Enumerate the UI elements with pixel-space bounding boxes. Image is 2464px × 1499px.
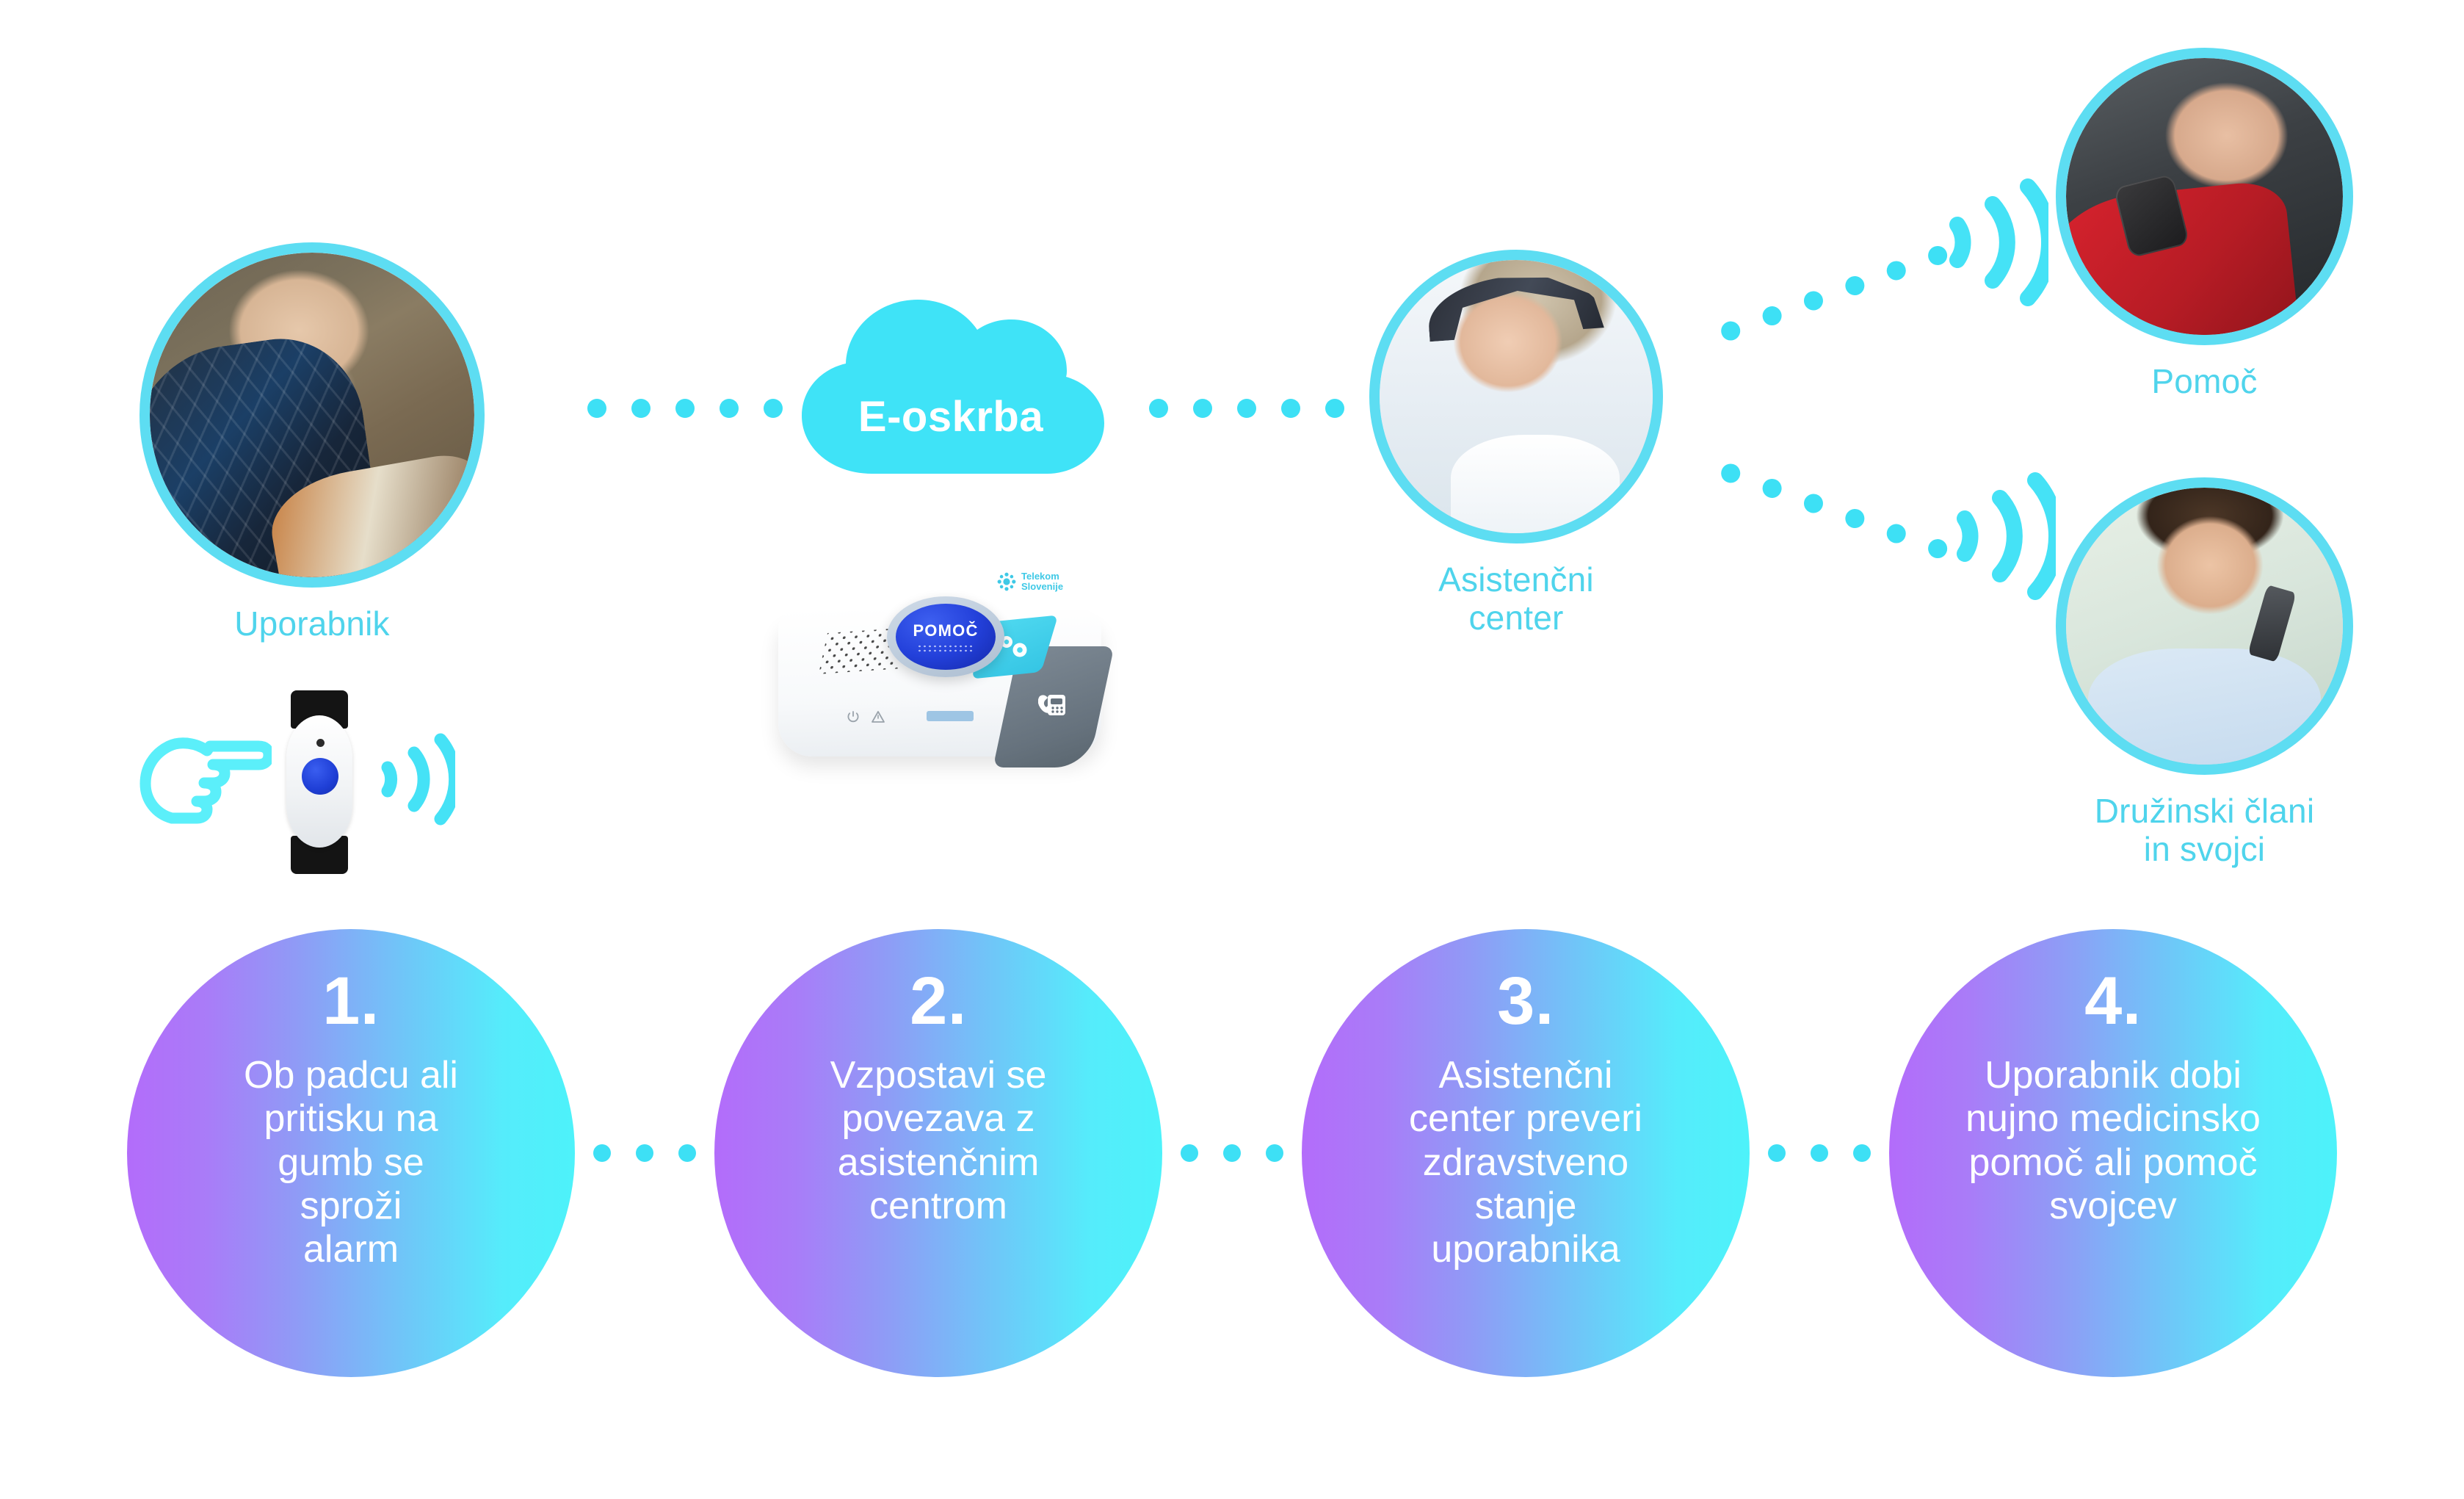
connector-cloud-to-center xyxy=(1149,399,1344,418)
power-icon xyxy=(846,709,860,724)
help-photo-ring xyxy=(2056,48,2353,345)
step-circle-4[interactable]: 4. Uporabnik dobi nujno medicinsko pomoč… xyxy=(1889,929,2337,1377)
step-number: 1. xyxy=(322,967,380,1035)
wrist-button-icon xyxy=(286,690,352,874)
connector-dot xyxy=(1884,521,1908,546)
connector-dot xyxy=(1237,399,1256,418)
assistance-center-label: Asistenčni center xyxy=(1438,561,1594,637)
connector-dot xyxy=(587,399,606,418)
step-connector-1-2 xyxy=(575,1144,714,1162)
connector-dot xyxy=(1760,303,1784,328)
phone-icon xyxy=(1038,692,1068,718)
step-circle-1[interactable]: 1. Ob padcu ali pritisku na gumb se spro… xyxy=(127,929,575,1377)
node-help: Pomoč xyxy=(2056,48,2353,401)
operator-headset-photo xyxy=(1380,260,1653,533)
step-number: 3. xyxy=(1497,967,1554,1035)
elderly-user-photo xyxy=(150,253,474,577)
step-circle-2[interactable]: 2. Vzpostavi se povezava z asistenčnim c… xyxy=(714,929,1162,1377)
step-number: 2. xyxy=(910,967,967,1035)
connector-dot xyxy=(1266,1144,1283,1162)
connector-dot xyxy=(675,399,695,418)
base-station-device: Telekom Slovenije POMOČ xyxy=(764,536,1145,779)
telekom-slovenije-logo: Telekom Slovenije xyxy=(997,568,1107,595)
signal-wave-icon-help xyxy=(1938,176,2048,312)
node-assistance-center: Asistenčni center xyxy=(1369,250,1663,637)
pomoc-button-label: POMOČ xyxy=(913,621,978,640)
connector-dot xyxy=(1193,399,1212,418)
step-text: Vzpostavi se povezava z asistenčnim cent… xyxy=(791,1054,1087,1228)
cloud-shape-icon xyxy=(786,286,1116,477)
step-text: Ob padcu ali pritisku na gumb se sproži … xyxy=(204,1054,498,1271)
connector-dot xyxy=(631,399,651,418)
warning-icon xyxy=(871,709,885,724)
connector-dot xyxy=(1149,399,1168,418)
connector-dot xyxy=(1884,259,1908,283)
assistance-center-photo-ring xyxy=(1369,250,1663,543)
telekom-logo-text: Telekom Slovenije xyxy=(1021,571,1063,591)
wristband-alarm-group xyxy=(139,690,463,874)
connector-dot xyxy=(720,399,739,418)
family-photo-ring xyxy=(2056,477,2353,775)
connector-dot xyxy=(764,399,783,418)
step-text: Asistenčni center preveri zdravstveno st… xyxy=(1369,1054,1682,1271)
signal-wave-icon-family xyxy=(1946,470,2056,606)
connector-dot xyxy=(1843,506,1867,530)
connector-dot xyxy=(1281,399,1300,418)
connector-dot xyxy=(1181,1144,1198,1162)
infographic-canvas: Uporabnik E-oskrba Asistenčni center xyxy=(0,0,2464,1499)
connector-dot xyxy=(1811,1144,1828,1162)
connector-dot xyxy=(1801,289,1825,313)
steps-row: 1. Ob padcu ali pritisku na gumb se spro… xyxy=(0,929,2464,1377)
connector-dot xyxy=(1843,273,1867,297)
connector-dot xyxy=(1719,461,1743,485)
rescuer-radio-photo xyxy=(2066,58,2343,335)
step-circle-3[interactable]: 3. Asistenčni center preveri zdravstveno… xyxy=(1302,929,1750,1377)
connector-dot xyxy=(1719,319,1743,343)
connector-dot xyxy=(1223,1144,1241,1162)
cloud-label: E-oskrba xyxy=(786,392,1116,441)
connector-dot xyxy=(1760,476,1784,500)
step-text: Uporabnik dobi nujno medicinsko pomoč al… xyxy=(1926,1054,2300,1228)
connector-dots-family xyxy=(1719,461,1950,561)
connector-user-to-cloud xyxy=(587,399,783,418)
step-connector-2-3 xyxy=(1162,1144,1302,1162)
pointing-hand-icon xyxy=(139,731,272,834)
pomoc-button[interactable]: POMOČ xyxy=(887,596,1004,677)
user-photo-ring xyxy=(139,242,485,588)
connector-dot xyxy=(1853,1144,1871,1162)
cloud-eoskrba: E-oskrba xyxy=(786,286,1116,477)
node-user: Uporabnik xyxy=(139,242,485,643)
step-number: 4. xyxy=(2084,967,2142,1035)
braille-dots xyxy=(917,644,974,653)
connector-dot xyxy=(636,1144,653,1162)
connector-dot xyxy=(1768,1144,1786,1162)
family-label: Družinski člani in svojci xyxy=(2095,792,2315,868)
user-label: Uporabnik xyxy=(234,605,389,643)
signal-wave-icon-wristband xyxy=(374,731,455,826)
help-label: Pomoč xyxy=(2151,363,2257,401)
connector-dot xyxy=(593,1144,611,1162)
connector-dot xyxy=(1801,491,1825,516)
connector-dot xyxy=(678,1144,696,1162)
family-member-phone-photo xyxy=(2066,488,2343,765)
step-connector-3-4 xyxy=(1750,1144,1889,1162)
node-family: Družinski člani in svojci xyxy=(2056,477,2353,868)
connector-dot xyxy=(1325,399,1344,418)
connector-dots-help xyxy=(1719,243,1950,343)
